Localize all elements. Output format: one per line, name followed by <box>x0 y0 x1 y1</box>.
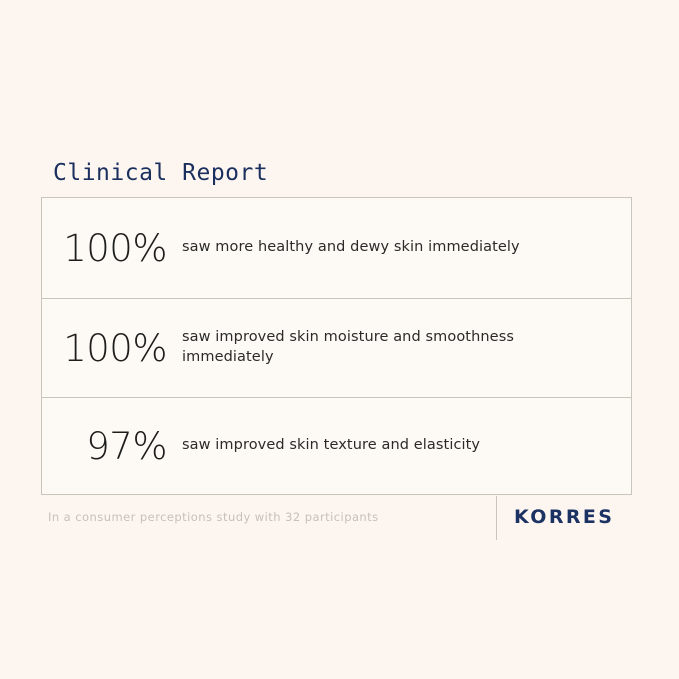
table-row: 100% saw improved skin moisture and smoo… <box>42 299 631 398</box>
stat-description: saw improved skin moisture and smoothnes… <box>182 328 631 367</box>
table-row: 97% saw improved skin texture and elasti… <box>42 398 631 494</box>
clinical-results-table: 100% saw more healthy and dewy skin imme… <box>41 197 632 495</box>
clinical-report-page: Clinical Report 100% saw more healthy an… <box>0 0 679 679</box>
stat-percentage: 100% <box>42 330 182 367</box>
korres-logo: KORRES <box>514 506 614 528</box>
footer-divider <box>496 496 497 540</box>
page-title: Clinical Report <box>53 160 268 186</box>
stat-description: saw more healthy and dewy skin immediate… <box>182 238 631 258</box>
table-row: 100% saw more healthy and dewy skin imme… <box>42 198 631 299</box>
stat-percentage: 97% <box>42 428 182 465</box>
stat-percentage: 100% <box>42 230 182 267</box>
report-footer: In a consumer perceptions study with 32 … <box>41 496 632 546</box>
stat-description: saw improved skin texture and elasticity <box>182 436 631 456</box>
study-footnote: In a consumer perceptions study with 32 … <box>48 510 379 524</box>
